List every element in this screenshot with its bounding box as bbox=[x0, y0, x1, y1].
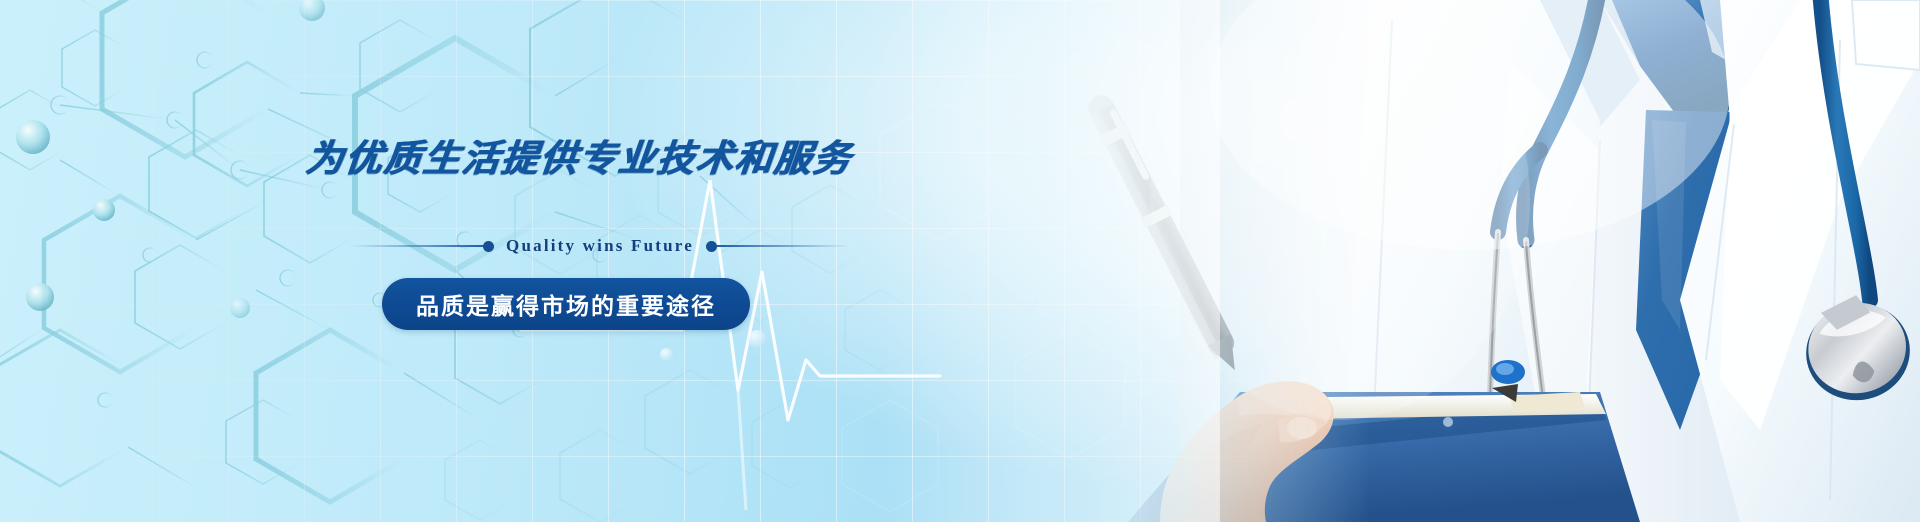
hero-banner: 为优质生活提供专业技术和服务 Quality wins Future 品质是赢得… bbox=[0, 0, 1920, 522]
cta-button[interactable]: 品质是赢得市场的重要途径 bbox=[382, 278, 750, 330]
tagline-text: Quality wins Future bbox=[494, 236, 706, 256]
page-title: 为优质生活提供专业技术和服务 bbox=[303, 128, 855, 182]
tagline-rule-left bbox=[350, 245, 483, 247]
banner-content: 为优质生活提供专业技术和服务 Quality wins Future 品质是赢得… bbox=[300, 0, 920, 522]
tagline-row: Quality wins Future bbox=[350, 236, 850, 256]
tagline-rule-right bbox=[717, 245, 850, 247]
bullet-dot-icon bbox=[706, 241, 717, 252]
cta-button-label: 品质是赢得市场的重要途径 bbox=[416, 287, 716, 321]
bullet-dot-icon bbox=[483, 241, 494, 252]
doctor-with-clipboard-photo bbox=[1040, 0, 1920, 522]
